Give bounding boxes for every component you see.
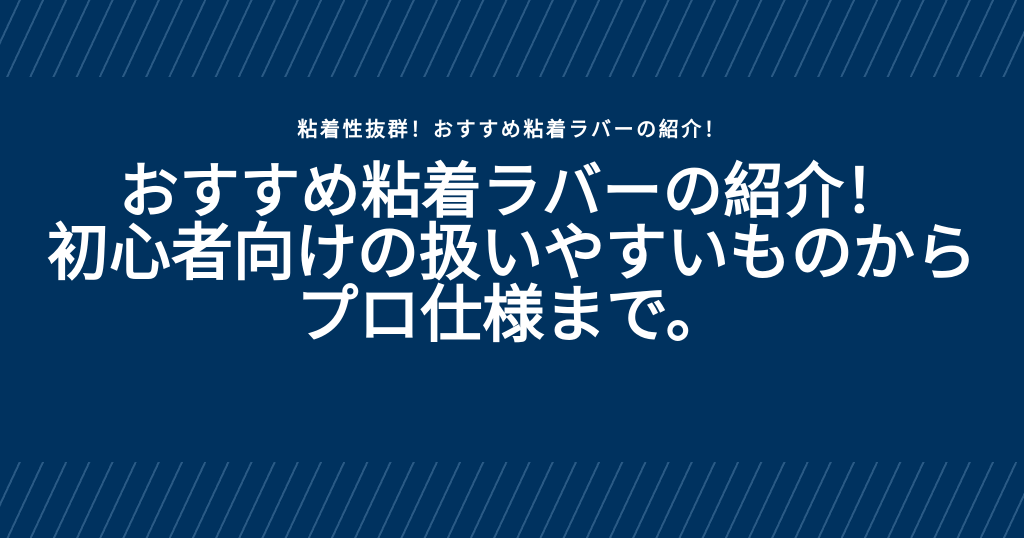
eyecatch-title: おすすめ粘着ラバーの紹介！ 初心者向けの扱いやすいものから プロ仕様まで。	[47, 162, 977, 346]
eyecatch-title-line-3: プロ仕様まで。	[47, 284, 977, 346]
eyecatch-subtitle: 粘着性抜群！おすすめ粘着ラバーの紹介！	[297, 118, 726, 140]
eyecatch-title-line-1: おすすめ粘着ラバーの紹介！	[47, 162, 977, 222]
eyecatch-content: 粘着性抜群！おすすめ粘着ラバーの紹介！ おすすめ粘着ラバーの紹介！ 初心者向けの…	[0, 0, 1024, 538]
eyecatch-banner: 粘着性抜群！おすすめ粘着ラバーの紹介！ おすすめ粘着ラバーの紹介！ 初心者向けの…	[0, 0, 1024, 538]
eyecatch-title-line-2: 初心者向けの扱いやすいものから	[47, 222, 977, 284]
